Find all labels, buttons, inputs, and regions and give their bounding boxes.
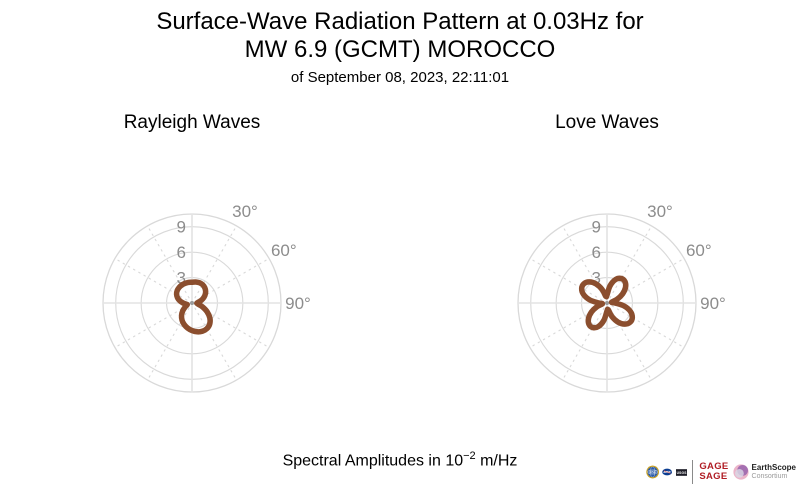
caption-suffix: m/Hz [476, 452, 518, 469]
radial-tick-label: 9 [592, 218, 601, 237]
polar-plot-love: 36930°60°90° [477, 148, 737, 408]
figure-title-line-2: MW 6.9 (GCMT) MOROCCO [0, 36, 800, 64]
radial-tick-label: 9 [177, 218, 186, 237]
angular-tick-label: 60° [686, 241, 712, 260]
polar-origin-dot [605, 301, 609, 305]
earthscope-name: EarthScope [752, 463, 796, 472]
polar-plot-rayleigh: 36930°60°90° [62, 148, 322, 408]
figure-title-line-1: Surface-Wave Radiation Pattern at 0.03Hz… [0, 8, 800, 36]
angular-tick-label: 30° [647, 202, 673, 221]
nsf-logo-icon: NSF [646, 459, 659, 485]
logo-divider [692, 460, 693, 484]
angular-tick-label: 30° [232, 202, 258, 221]
angular-tick-label: 90° [285, 294, 311, 313]
figure-subtitle: of September 08, 2023, 22:11:01 [0, 67, 800, 89]
earthscope-logo: EarthScope Consortium [732, 463, 796, 481]
earthscope-sub: Consortium [752, 472, 796, 481]
logo-bar: NSF NASA USGS GAGE SAGE EarthScope [646, 452, 796, 492]
radial-tick-label: 6 [177, 243, 186, 262]
usgs-logo-icon: USGS [676, 466, 687, 479]
panel-title-rayleigh: Rayleigh Waves [92, 112, 292, 134]
svg-text:NSF: NSF [648, 470, 657, 475]
panel-title-love: Love Waves [507, 112, 707, 134]
figure-title-block: Surface-Wave Radiation Pattern at 0.03Hz… [0, 8, 800, 89]
angular-tick-label: 90° [700, 294, 726, 313]
radial-tick-label: 6 [592, 243, 601, 262]
gage-sage-logo: GAGE SAGE [697, 462, 728, 482]
angular-tick-label: 60° [271, 241, 297, 260]
nasa-logo-icon: NASA [662, 465, 672, 479]
caption-prefix: Spectral Amplitudes in 10 [283, 452, 464, 469]
svg-text:USGS: USGS [676, 470, 687, 474]
earthscope-mark-icon [732, 463, 750, 481]
caption-exponent: −2 [463, 450, 476, 462]
polar-origin-dot [190, 301, 194, 305]
sage-label: SAGE [697, 472, 728, 482]
figure-canvas: Surface-Wave Radiation Pattern at 0.03Hz… [0, 0, 800, 496]
